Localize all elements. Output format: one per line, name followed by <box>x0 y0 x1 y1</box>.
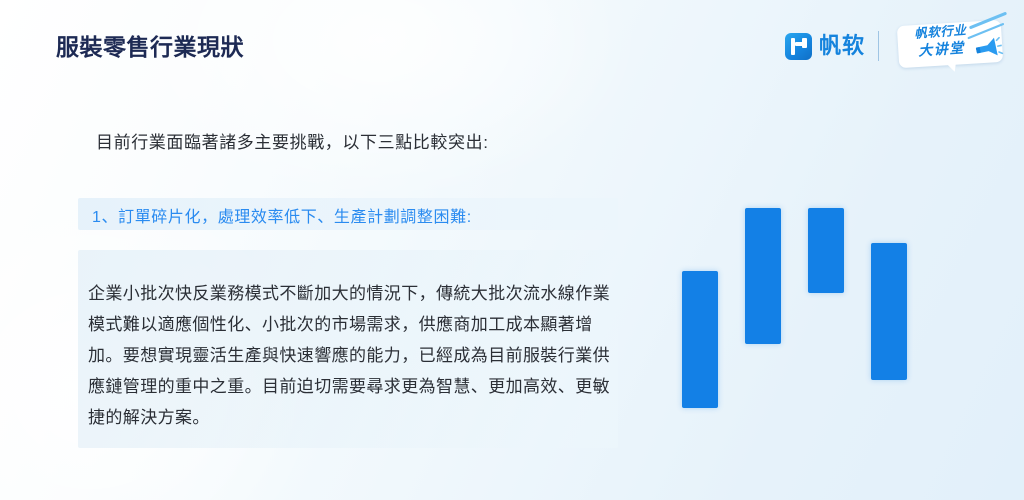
fanruan-logo-icon <box>785 33 812 60</box>
brand-name-label: 帆软 <box>819 35 865 57</box>
point-heading: 1、訂單碎片化，處理效率低下、生產計劃調整困難: <box>92 203 472 227</box>
intro-text: 目前行業面臨著諸多主要挑戰，以下三點比較突出: <box>96 128 489 153</box>
body-paragraph-text: 企業小批次快反業務模式不斷加大的情況下，傳統大批次流水線作業模式難以適應個性化、… <box>88 278 616 433</box>
brand-lockup: 帆软 帆软行业 大讲堂 <box>785 14 1010 78</box>
bar-1 <box>682 271 718 408</box>
bar-2 <box>745 208 781 344</box>
bar-3 <box>808 208 844 293</box>
bar-4 <box>871 243 907 380</box>
lecture-hall-badge: 帆软行业 大讲堂 <box>892 17 1010 75</box>
vertical-divider-icon <box>878 31 879 61</box>
brand-logo: 帆软 <box>785 33 865 60</box>
decorative-bar-chart <box>660 180 940 440</box>
page-title: 服裝零售行業現狀 <box>56 28 244 62</box>
body-paragraph: 企業小批次快反業務模式不斷加大的情況下，傳統大批次流水線作業模式難以適應個性化、… <box>88 278 616 433</box>
slide-header: 服裝零售行業現狀 帆软 帆软行业 大讲堂 <box>0 0 1024 92</box>
